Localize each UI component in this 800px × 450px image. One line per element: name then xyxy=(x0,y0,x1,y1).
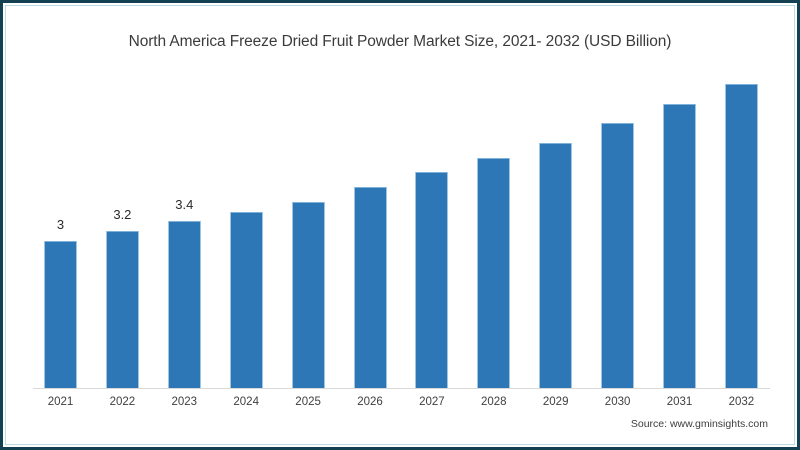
x-tick-label-2022: 2022 xyxy=(92,396,152,408)
x-tick-label-2026: 2026 xyxy=(340,396,400,408)
bar-value-label-2022: 3.2 xyxy=(92,207,152,222)
x-tick-label-2023: 2023 xyxy=(154,396,214,408)
x-tick-label-2028: 2028 xyxy=(464,396,524,408)
bar-2032 xyxy=(725,84,758,388)
source-attribution: Source: www.gminsights.com xyxy=(631,418,768,430)
x-axis-line xyxy=(33,388,770,389)
x-tick-label-2030: 2030 xyxy=(588,396,648,408)
plot-area: 320213.220223.42023202420252026202720282… xyxy=(0,0,800,450)
bar-2029 xyxy=(539,143,572,388)
bar-2027 xyxy=(415,172,448,388)
bar-2024 xyxy=(230,212,263,388)
x-tick-label-2025: 2025 xyxy=(278,396,338,408)
bar-2025 xyxy=(292,202,325,388)
x-tick-label-2024: 2024 xyxy=(216,396,276,408)
x-tick-label-2032: 2032 xyxy=(711,396,771,408)
x-tick-label-2029: 2029 xyxy=(526,396,586,408)
bar-2022 xyxy=(106,231,139,388)
bar-2026 xyxy=(354,187,387,388)
x-tick-label-2021: 2021 xyxy=(31,396,91,408)
bar-value-label-2021: 3 xyxy=(31,217,91,232)
bar-2021 xyxy=(44,241,77,388)
bar-2028 xyxy=(477,158,510,388)
x-tick-label-2027: 2027 xyxy=(402,396,462,408)
x-tick-label-2031: 2031 xyxy=(650,396,710,408)
bar-2031 xyxy=(663,104,696,388)
bar-value-label-2023: 3.4 xyxy=(154,197,214,212)
bar-2023 xyxy=(168,221,201,388)
chart-screenshot: North America Freeze Dried Fruit Powder … xyxy=(0,0,800,450)
bar-2030 xyxy=(601,123,634,388)
